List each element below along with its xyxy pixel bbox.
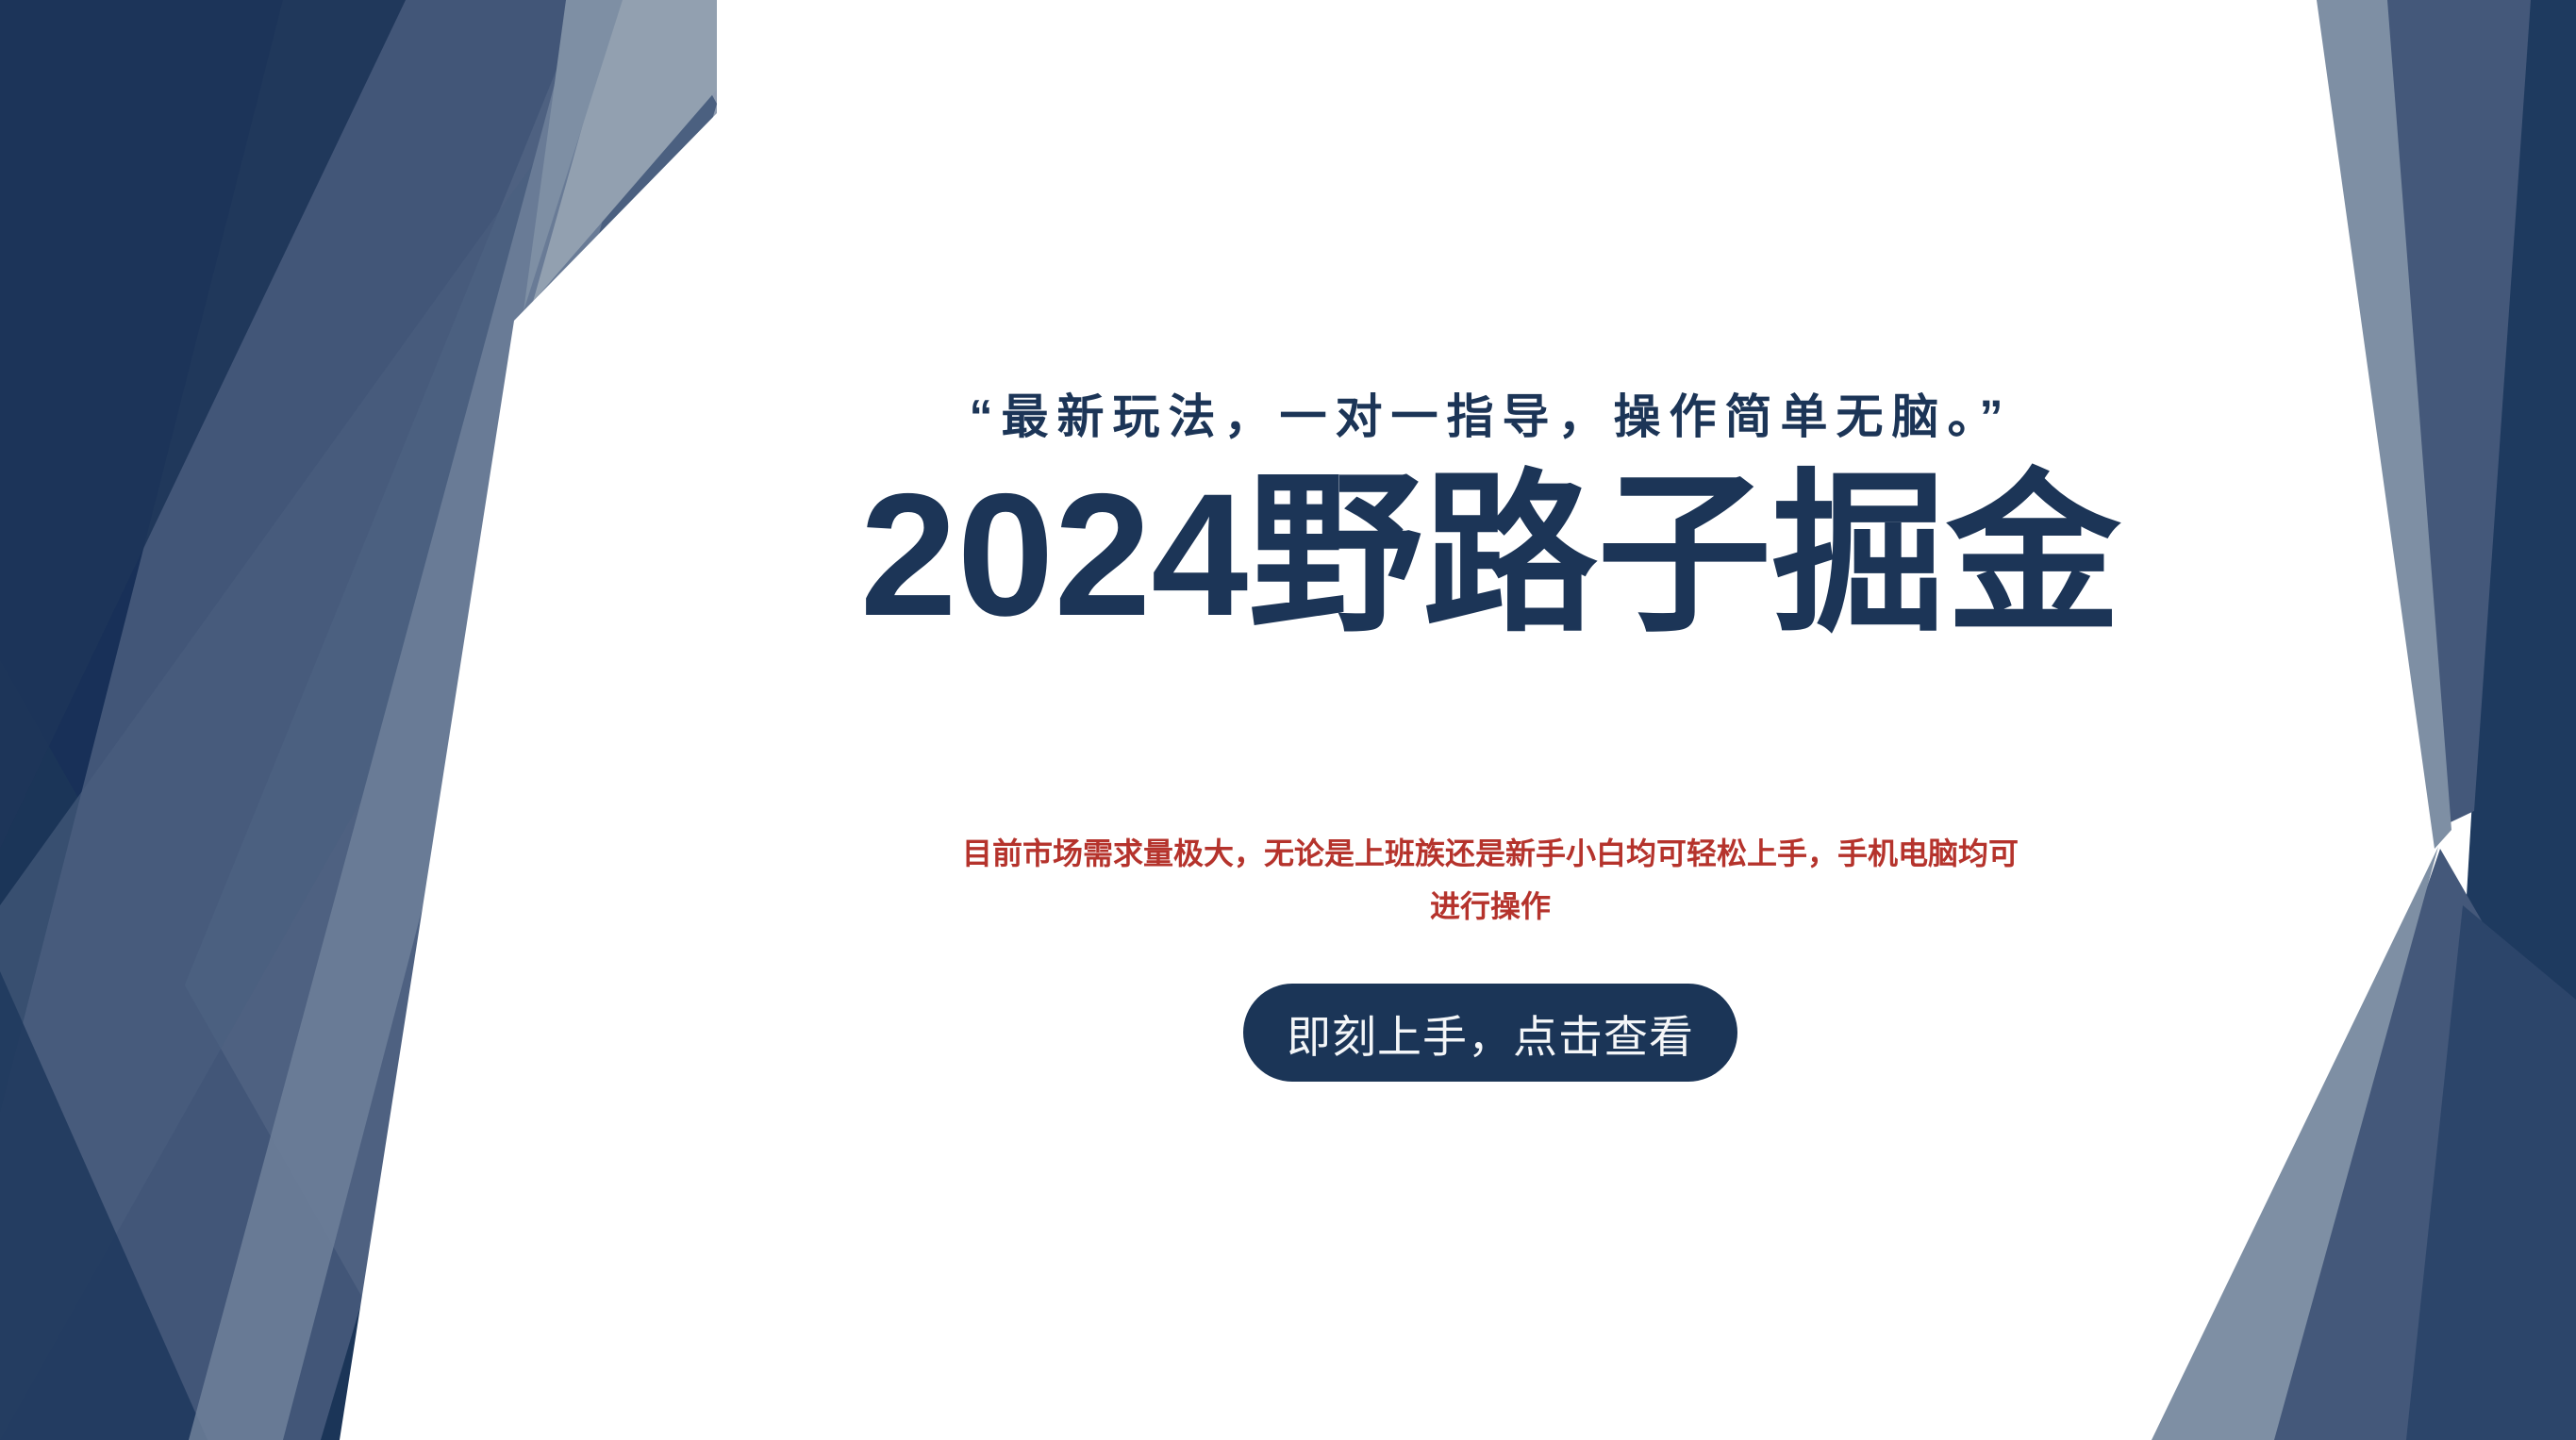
deco-r-shape-gray-upper <box>2317 0 2451 849</box>
hero-quote: “最新玩法，一对一指导，操作简单无脑。” <box>970 389 2012 445</box>
hero-content: “最新玩法，一对一指导，操作简单无脑。” 2024野路子掘金 目前市场需求量极大… <box>717 0 2264 1440</box>
deco-shape-light-descend <box>189 0 660 1440</box>
deco-shape-navy-wedge <box>0 0 406 849</box>
deco-shape-slate-descend <box>0 0 717 1440</box>
deco-shape-slate-ascend <box>0 0 717 1440</box>
slide-canvas: “最新玩法，一对一指导，操作简单无脑。” 2024野路子掘金 目前市场需求量极大… <box>0 0 2576 1440</box>
cta-button[interactable]: 即刻上手，点击查看 <box>1243 984 1737 1082</box>
promo-description: 目前市场需求量极大，无论是上班族还是新手小白均可轻松上手，手机电脑均可 进行操作 <box>924 827 2056 933</box>
promo-line-1: 目前市场需求量极大，无论是上班族还是新手小白均可轻松上手，手机电脑均可 <box>924 827 2056 880</box>
deco-shape-lightest-top <box>533 0 717 302</box>
deco-r-shape-navy-column <box>2435 0 2576 1440</box>
page-title: 2024野路子掘金 <box>860 458 2121 654</box>
left-decoration-panel <box>0 0 717 1440</box>
deco-shape-navy-wedge-lower <box>0 971 208 1440</box>
deco-r-shape-slate-lower <box>2236 849 2576 1440</box>
deco-shape-upper-light-triangle <box>524 0 623 311</box>
promo-line-2: 进行操作 <box>924 880 2056 933</box>
deco-shape-navy-base-lower <box>0 660 443 1440</box>
deco-shape-white-notch <box>340 113 717 1440</box>
deco-r-shape-slate-upper <box>2376 0 2531 830</box>
deco-r-shape-navy-lower <box>2406 905 2576 1440</box>
deco-shape-navy-base <box>0 0 585 1440</box>
left-decoration-svg <box>0 0 717 1440</box>
